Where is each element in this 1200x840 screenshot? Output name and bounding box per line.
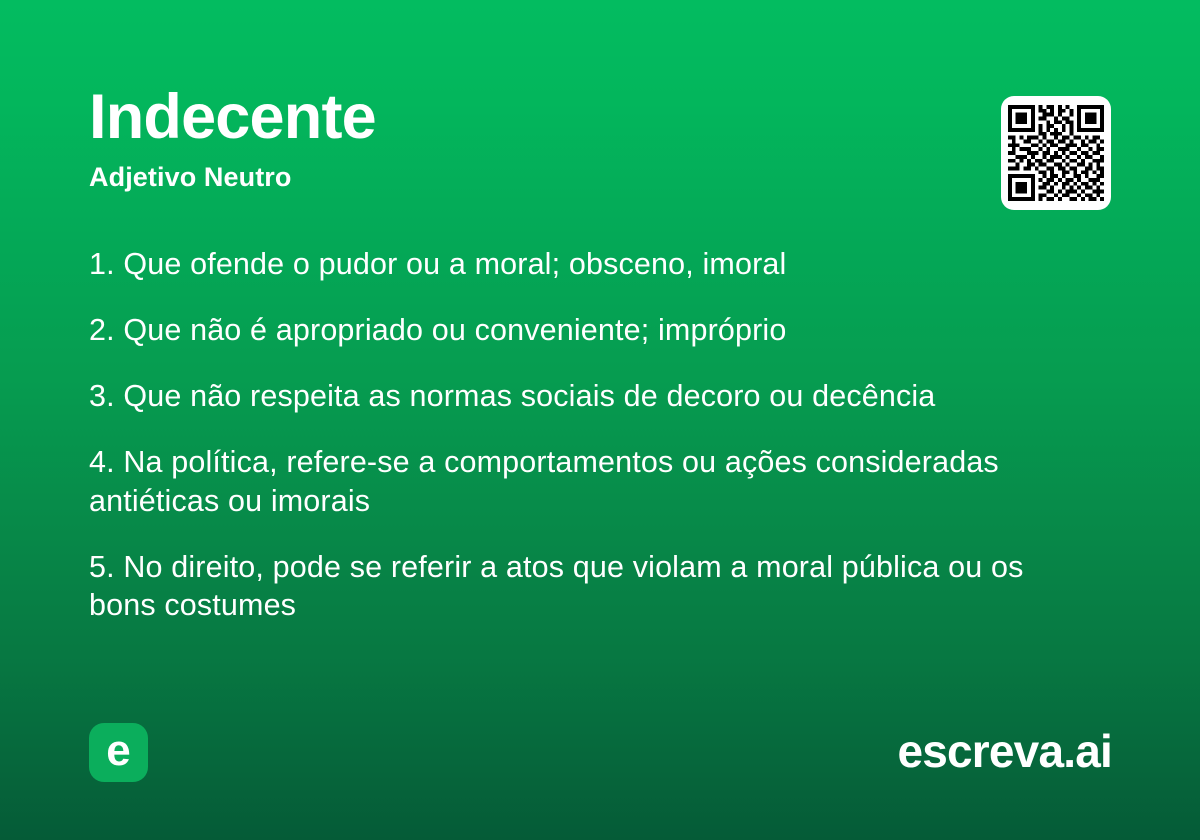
definition-card: Indecente Adjetivo Neutro 1. Que ofende … [0,0,1200,840]
card-header: Indecente Adjetivo Neutro [89,86,969,193]
brand-logo-letter: e [106,729,130,773]
word-class-label: Adjetivo Neutro [89,163,969,193]
brand-wordmark: escreva.ai [897,722,1112,782]
definition-item: 4. Na política, refere-se a comportament… [89,443,1089,519]
definition-item: 2. Que não é apropriado ou conveniente; … [89,311,1089,349]
page-title: Indecente [89,86,969,149]
definition-item: 3. Que não respeita as normas sociais de… [89,377,1089,415]
definition-item: 5. No direito, pode se referir a atos qu… [89,548,1089,624]
definition-list: 1. Que ofende o pudor ou a moral; obscen… [89,245,1089,624]
brand-logo[interactable]: e [89,723,148,782]
qr-code-icon[interactable] [1001,96,1111,210]
qr-code-matrix [1008,105,1104,201]
definition-item: 1. Que ofende o pudor ou a moral; obscen… [89,245,1089,283]
